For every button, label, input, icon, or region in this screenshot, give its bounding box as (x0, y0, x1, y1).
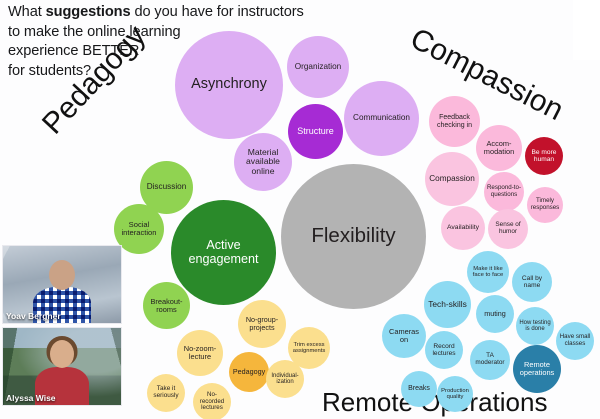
bubble-no-recorded-lectures[interactable]: No-recorded lectures (193, 383, 231, 419)
bubble-have-small-classes[interactable]: Have small classes (556, 322, 594, 360)
bubble-feedback-checking-in[interactable]: Feedback checking in (429, 96, 480, 147)
bubble-label: Cameras on (384, 328, 424, 344)
bubble-sense-of-humor[interactable]: Sense of humor (488, 209, 528, 249)
question-line-1: What suggestions do you have for instruc… (8, 3, 338, 23)
bubble-label: Organization (289, 63, 347, 72)
bubble-label: Record lectures (427, 343, 461, 357)
bubble-label: Trim excess assignments (290, 342, 328, 355)
bubble-record-lectures[interactable]: Record lectures (425, 331, 463, 369)
bubble-no-group-projects[interactable]: No-group-projects (238, 300, 286, 348)
category-label-compassion: Compassion (405, 22, 569, 128)
bubble-label: Pedagogy (231, 368, 267, 376)
bubble-label: Be more human (527, 149, 561, 163)
bubble-accom-modation[interactable]: Accom-modation (476, 125, 522, 171)
bubble-label: No-group-projects (240, 316, 284, 332)
bubble-compassion[interactable]: Compassion (425, 152, 479, 206)
bubble-label: Sense of humor (490, 222, 526, 236)
participant-name-alyssa: Alyssa Wise (6, 393, 56, 403)
bubble-organization[interactable]: Organization (287, 36, 349, 98)
bubble-label: Accom-modation (478, 140, 520, 156)
video-tile-alyssa-wise[interactable]: Alyssa Wise (2, 327, 122, 406)
bubble-label: Compassion (427, 175, 477, 184)
bubble-production-quality[interactable]: Production quality (437, 376, 473, 412)
bubble-label: TA moderator (472, 353, 508, 367)
bubble-label: Remote operations (515, 361, 559, 377)
bubble-cameras-on[interactable]: Cameras on (382, 314, 426, 358)
video-tile-yoav-bergner[interactable]: Yoav Bergner (2, 245, 122, 324)
top-right-white-panel (573, 0, 600, 60)
bubble-call-by-name[interactable]: Call by name (512, 262, 552, 302)
bubble-label: muting (478, 310, 512, 318)
question-line-2: to make the online learning (8, 23, 338, 43)
bubble-label: Communication (346, 114, 417, 123)
bubble-label: Material available online (236, 148, 290, 176)
bubble-timely-responses[interactable]: Timely responses (527, 187, 563, 223)
bubble-breaks[interactable]: Breaks (401, 371, 437, 407)
bubble-label: Feedback checking in (431, 114, 478, 129)
bubble-tech-skills[interactable]: Tech-skills (424, 281, 471, 328)
participant-name-yoav: Yoav Bergner (6, 311, 61, 321)
bubble-label: Take it seriously (149, 386, 183, 400)
bubble-label: Structure (290, 127, 341, 137)
bubble-flexibility[interactable]: Flexibility (281, 164, 426, 309)
bubble-make-it-like-face-to-face[interactable]: Make it like face to face (467, 251, 509, 293)
bubble-take-it-seriously[interactable]: Take it seriously (147, 374, 185, 412)
bubble-label: Have small classes (558, 334, 592, 347)
bubble-muting[interactable]: muting (476, 295, 514, 333)
bubble-label: How testing is done (518, 320, 552, 333)
bubble-be-more-human[interactable]: Be more human (525, 137, 563, 175)
bubble-label: Production quality (439, 388, 471, 401)
bubble-ta-moderator[interactable]: TA moderator (470, 340, 510, 380)
bubble-map-canvas: What suggestions do you have for instruc… (0, 0, 600, 419)
bubble-label: Social interaction (116, 221, 162, 237)
bubble-label: Breakout-rooms (145, 298, 188, 314)
bubble-pedagogy[interactable]: Pedagogy (229, 352, 269, 392)
bubble-label: No-recorded lectures (195, 392, 229, 412)
bubble-label: Flexibility (283, 225, 424, 247)
bubble-label: Breaks (403, 385, 435, 393)
bubble-label: Make it like face to face (469, 266, 507, 279)
bubble-structure[interactable]: Structure (288, 104, 343, 159)
bubble-individual-ization[interactable]: Individual-ization (266, 360, 304, 398)
bubble-material-available-online[interactable]: Material available online (234, 133, 292, 191)
bubble-label: Timely responses (529, 198, 561, 211)
bubble-no-zoom-lecture[interactable]: No-zoom-lecture (177, 330, 223, 376)
bubble-label: Call by name (514, 275, 550, 289)
bubble-label: No-zoom-lecture (179, 345, 221, 361)
bubble-remote-operations[interactable]: Remote operations (513, 345, 561, 393)
bubble-label: Individual-ization (268, 373, 302, 386)
bubble-label: Asynchrony (177, 77, 281, 93)
bubble-active-engagement[interactable]: Active engagement (171, 200, 276, 305)
bubble-communication[interactable]: Communication (344, 81, 419, 156)
bubble-label: Tech-skills (426, 300, 469, 309)
bubble-label: Discussion (142, 183, 191, 192)
bubble-asynchrony[interactable]: Asynchrony (175, 31, 283, 139)
bubble-label: Respond-to-questions (486, 185, 522, 198)
bubble-label: Active engagement (173, 239, 274, 266)
bubble-availability[interactable]: Availability (441, 206, 485, 250)
bubble-respond-to-questions[interactable]: Respond-to-questions (484, 172, 524, 212)
bubble-how-testing-is-done[interactable]: How testing is done (516, 307, 554, 345)
bubble-label: Availability (443, 224, 483, 231)
bubble-breakout-rooms[interactable]: Breakout-rooms (143, 282, 190, 329)
